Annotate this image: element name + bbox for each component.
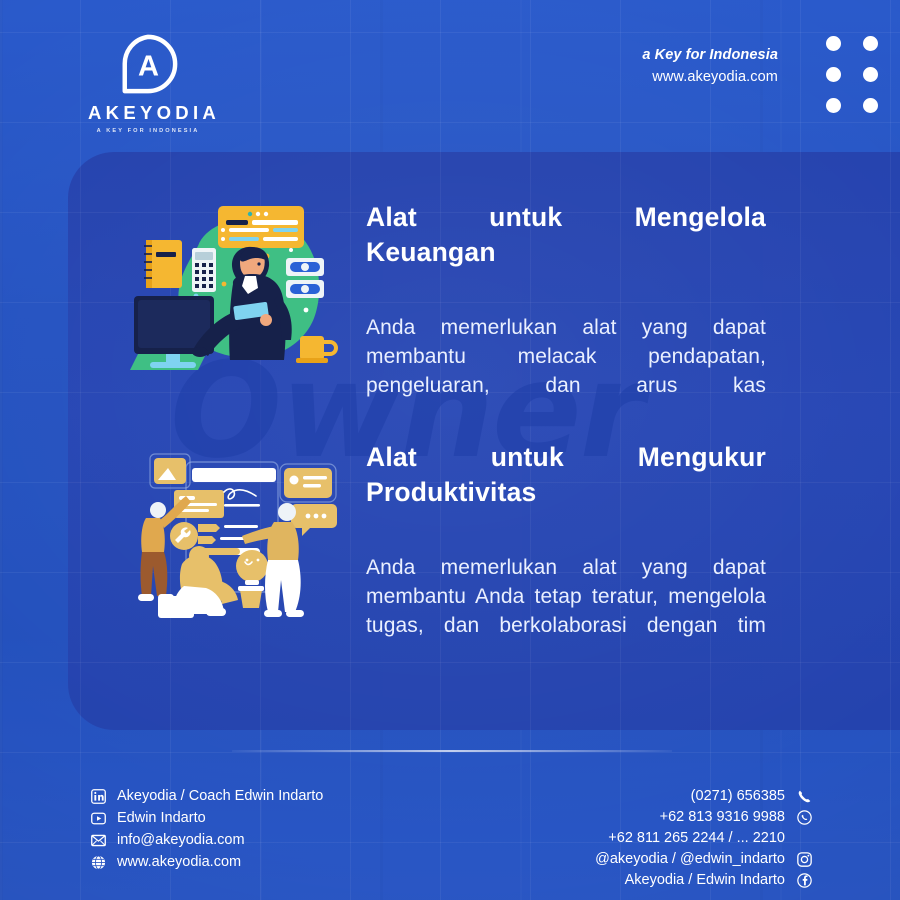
block-body: Anda memerlukan alat yang dapat membantu… <box>366 553 766 669</box>
akeyodia-speech-bubble-a-logo-icon: A <box>117 33 179 95</box>
block-heading: Alat untuk Mengukur Produktivitas <box>366 440 766 545</box>
productivity-copy: Alat untuk Mengukur Produktivitas Anda m… <box>366 440 766 669</box>
contact-text: Akeyodia / Edwin Indarto <box>625 870 785 890</box>
header-tagline: a Key for Indonesia www.akeyodia.com <box>642 47 778 85</box>
footer-divider <box>232 750 672 752</box>
dot <box>863 98 878 113</box>
poster-canvas: Owner A AKEYODIA A KEY FOR INDONESIA a K… <box>0 0 900 900</box>
contact-text: info@akeyodia.com <box>117 830 245 850</box>
contact-text: (0271) 656385 <box>691 786 785 806</box>
contact-row-website[interactable]: www.akeyodia.com <box>90 852 323 872</box>
contact-text: Akeyodia / Coach Edwin Indarto <box>117 786 323 806</box>
email-icon <box>90 832 106 848</box>
dot <box>863 36 878 51</box>
contact-row-email[interactable]: info@akeyodia.com <box>90 830 323 850</box>
footer-contacts-right: (0271) 656385 +62 813 9316 9988 +62 811 … <box>595 786 812 891</box>
contact-row-linkedin[interactable]: Akeyodia / Coach Edwin Indarto <box>90 786 323 806</box>
youtube-icon <box>90 810 106 826</box>
phone-icon <box>796 788 812 804</box>
contact-text: @akeyodia / @edwin_indarto <box>595 849 785 869</box>
contact-row-whatsapp[interactable]: +62 813 9316 9988 <box>595 807 812 827</box>
contact-row-facebook[interactable]: Akeyodia / Edwin Indarto <box>595 870 812 890</box>
finance-management-illustration <box>128 200 346 381</box>
linkedin-icon <box>90 788 106 804</box>
six-dot-grid-icon <box>826 36 878 113</box>
footer-contacts-left: Akeyodia / Coach Edwin Indarto Edwin Ind… <box>90 786 323 874</box>
dot <box>826 98 841 113</box>
facebook-icon <box>796 872 812 888</box>
content-block-finance: Alat untuk Mengelola Keuangan Anda memer… <box>128 200 766 429</box>
block-body: Anda memerlukan alat yang dapat membantu… <box>366 313 766 429</box>
brand-logo: A AKEYODIA A KEY FOR INDONESIA <box>88 33 208 134</box>
contact-row-phone-alt[interactable]: +62 811 265 2244 / ... 2210 <box>595 828 812 848</box>
tagline-website: www.akeyodia.com <box>642 69 778 85</box>
brand-tagline: A KEY FOR INDONESIA <box>88 128 208 134</box>
brand-name: AKEYODIA <box>88 102 208 124</box>
contact-text: www.akeyodia.com <box>117 852 241 872</box>
contact-text: +62 813 9316 9988 <box>660 807 785 827</box>
contact-row-instagram[interactable]: @akeyodia / @edwin_indarto <box>595 849 812 869</box>
finance-copy: Alat untuk Mengelola Keuangan Anda memer… <box>366 200 766 429</box>
contact-text: +62 811 265 2244 / ... 2210 <box>608 828 785 848</box>
dot <box>826 67 841 82</box>
contact-row-youtube[interactable]: Edwin Indarto <box>90 808 323 828</box>
block-heading: Alat untuk Mengelola Keuangan <box>366 200 766 305</box>
productivity-teamwork-illustration <box>128 440 346 625</box>
whatsapp-icon <box>796 809 812 825</box>
dot <box>863 67 878 82</box>
contact-text: Edwin Indarto <box>117 808 206 828</box>
instagram-icon <box>796 851 812 867</box>
poster-header: A AKEYODIA A KEY FOR INDONESIA a Key for… <box>0 0 900 150</box>
content-block-productivity: Alat untuk Mengukur Produktivitas Anda m… <box>128 440 766 669</box>
globe-icon <box>90 854 106 870</box>
svg-text:A: A <box>138 51 159 83</box>
contact-row-phone[interactable]: (0271) 656385 <box>595 786 812 806</box>
tagline-primary: a Key for Indonesia <box>642 47 778 63</box>
dot <box>826 36 841 51</box>
